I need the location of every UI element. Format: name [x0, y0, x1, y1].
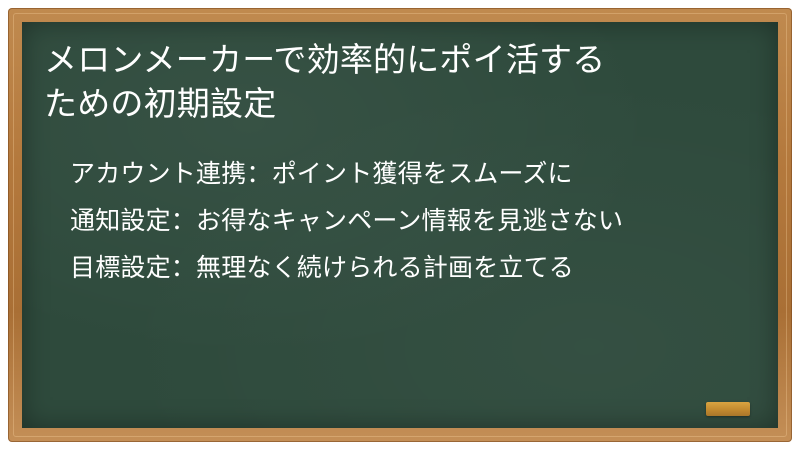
- chalkboard-surface: メロンメーカーで効率的にポイ活する ための初期設定 アカウント連携：ポイント獲得…: [22, 22, 778, 428]
- list-item: アカウント連携：ポイント獲得をスムーズに: [70, 162, 748, 187]
- bullet-list: アカウント連携：ポイント獲得をスムーズに 通知設定：お得なキャンペーン情報を見逃…: [70, 162, 748, 303]
- list-item: 通知設定：お得なキャンペーン情報を見逃さない: [70, 209, 748, 234]
- page-title: メロンメーカーで効率的にポイ活する ための初期設定: [44, 38, 754, 125]
- eraser-icon: [706, 402, 750, 416]
- list-item: 目標設定：無理なく続けられる計画を立てる: [70, 256, 748, 281]
- slide-canvas: メロンメーカーで効率的にポイ活する ための初期設定 アカウント連携：ポイント獲得…: [0, 0, 800, 450]
- chalkboard-frame: メロンメーカーで効率的にポイ活する ための初期設定 アカウント連携：ポイント獲得…: [8, 8, 792, 442]
